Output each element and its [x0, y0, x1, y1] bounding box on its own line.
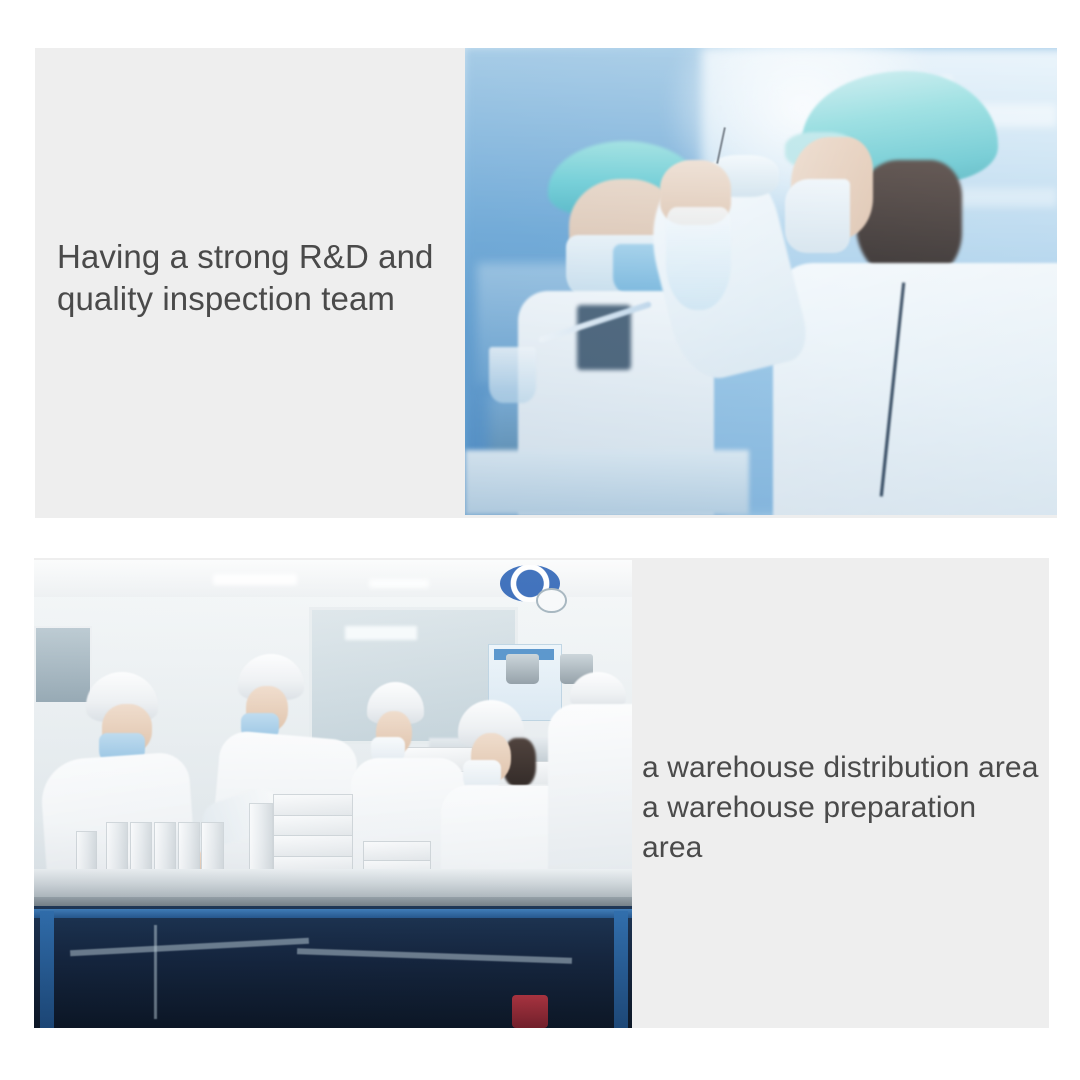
section-warehouse: a warehouse distribution area a warehous… [34, 558, 1049, 1028]
lab-photo-color-tone [465, 48, 1057, 515]
caption-rnd-quality: Having a strong R&D and quality inspecti… [57, 236, 457, 320]
warehouse-photo-color-tone [34, 560, 632, 1028]
section-rnd-quality: Having a strong R&D and quality inspecti… [35, 48, 1057, 518]
warehouse-packing-photo [34, 560, 632, 1028]
lab-quality-inspection-photo [465, 48, 1057, 515]
caption-warehouse: a warehouse distribution area a warehous… [642, 748, 1042, 868]
